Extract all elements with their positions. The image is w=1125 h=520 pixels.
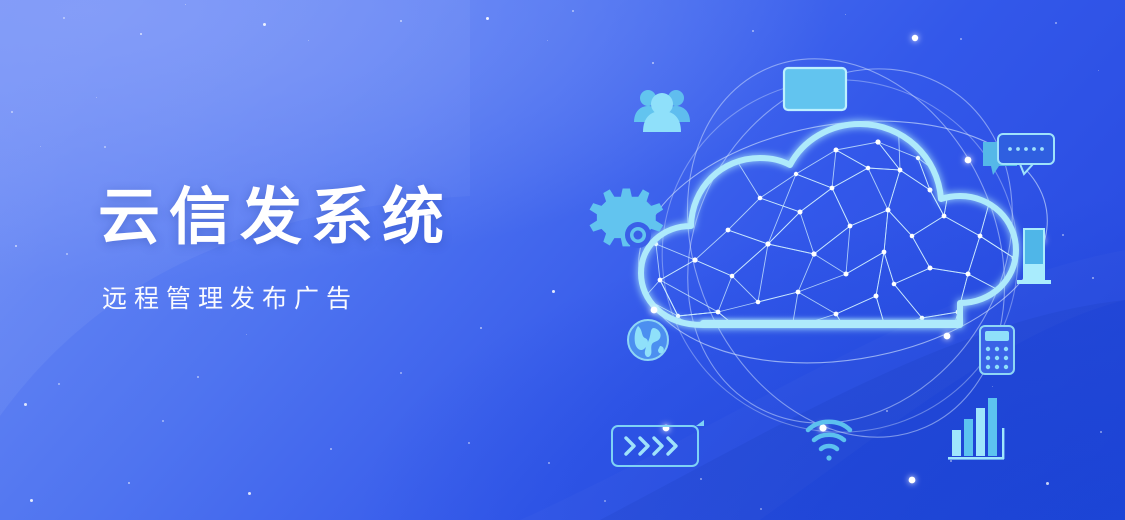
orbit-node	[641, 205, 648, 212]
star	[308, 40, 309, 41]
star	[185, 4, 186, 5]
star	[128, 482, 130, 484]
globe-icon	[628, 320, 668, 360]
star	[845, 14, 846, 15]
star	[40, 146, 41, 147]
star	[30, 499, 33, 502]
page-subtitle: 远程管理发布广告	[102, 279, 453, 315]
star	[572, 10, 574, 12]
orbit-node	[944, 333, 951, 340]
orbit-node	[651, 307, 658, 314]
star	[96, 97, 97, 98]
star	[15, 245, 17, 247]
orbit-node	[909, 477, 916, 484]
star	[140, 33, 142, 35]
cloud-shape	[641, 116, 1030, 390]
star	[400, 20, 402, 22]
cloud-network-illustration	[600, 30, 1100, 500]
star	[760, 508, 762, 510]
orbit-ring	[616, 34, 1063, 479]
orbit-nodes	[641, 35, 1045, 484]
orbit-node	[819, 424, 826, 431]
orbit-node	[965, 157, 972, 164]
page-title: 云信发系统	[98, 186, 453, 249]
orbit-node	[1037, 236, 1045, 244]
star	[263, 23, 266, 26]
star	[548, 462, 550, 464]
star	[66, 253, 68, 255]
star	[162, 420, 164, 422]
promo-banner: 云信发系统 远程管理发布广告	[0, 0, 1125, 520]
star	[400, 372, 402, 374]
orbit-ring	[623, 8, 1078, 485]
star	[330, 448, 332, 450]
star	[604, 500, 606, 502]
cloud-mesh	[642, 116, 1030, 390]
star	[58, 383, 60, 385]
star	[104, 146, 106, 148]
star	[1100, 431, 1102, 433]
calculator-icon	[980, 326, 1014, 374]
orbit-rings	[616, 8, 1077, 488]
cloud-base-line	[700, 320, 962, 326]
star	[468, 442, 470, 444]
fast-forward-icon	[612, 420, 704, 466]
headline-block: 云信发系统 远程管理发布广告	[98, 186, 453, 315]
wifi-icon	[808, 422, 850, 461]
star	[547, 40, 548, 41]
star	[24, 403, 27, 406]
star	[197, 376, 199, 378]
orbit-node	[788, 84, 795, 91]
orbit-node	[912, 35, 918, 41]
star	[552, 290, 555, 293]
star	[11, 111, 13, 113]
users-icon	[634, 90, 690, 132]
star	[246, 334, 247, 335]
orbit-node	[653, 117, 660, 124]
star	[248, 492, 251, 495]
star	[63, 17, 65, 19]
orbit-node	[663, 425, 670, 432]
star	[480, 327, 482, 329]
star	[1055, 22, 1057, 24]
star	[486, 17, 489, 20]
